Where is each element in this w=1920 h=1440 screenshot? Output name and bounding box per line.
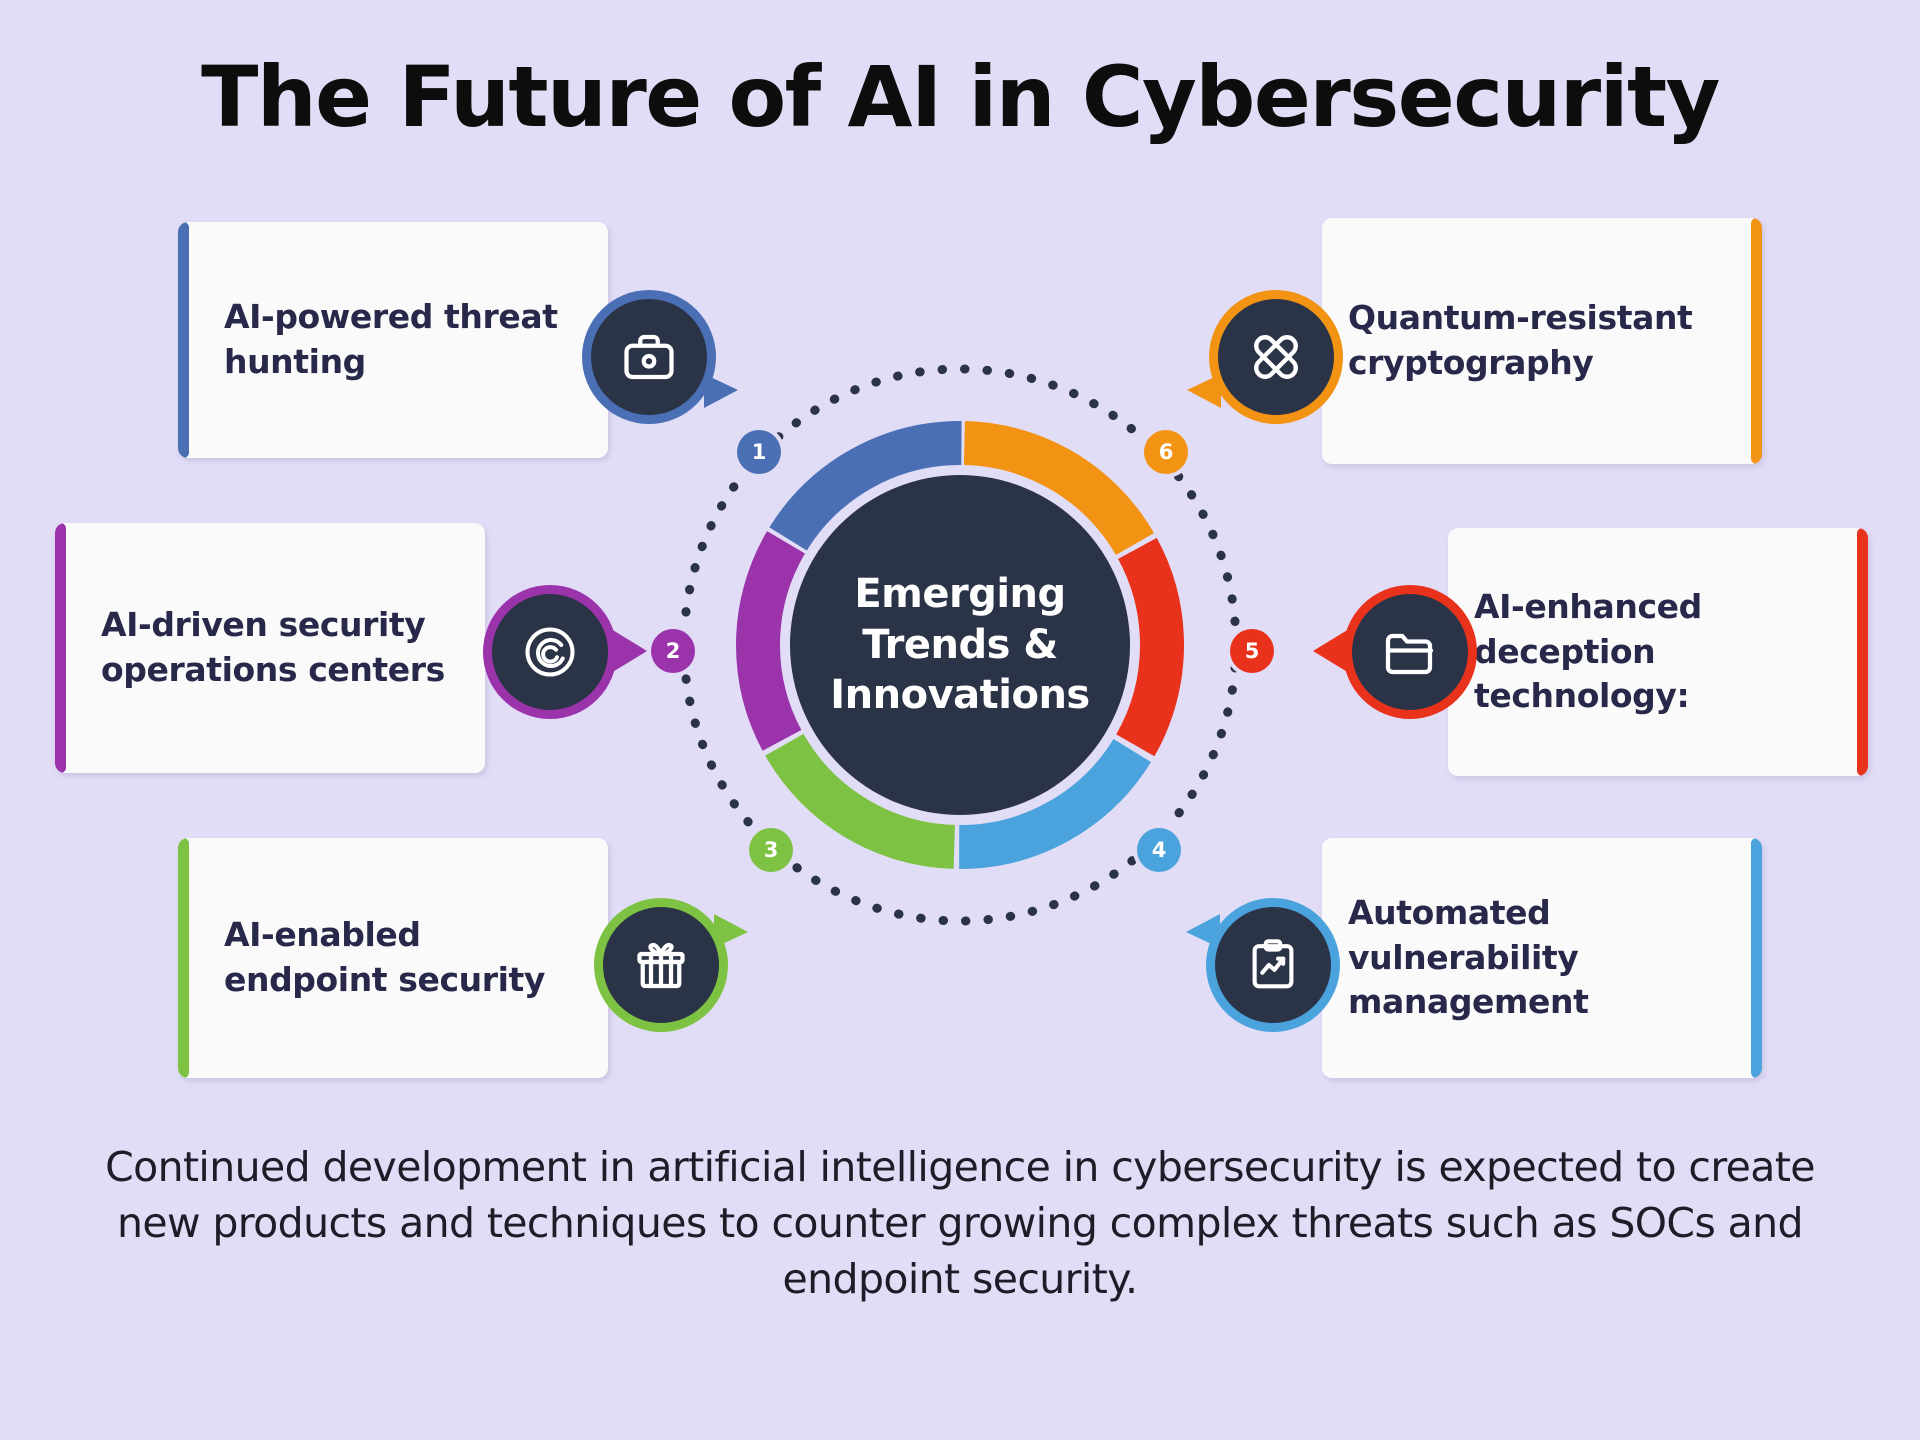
infographic-canvas: The Future of AI in Cybersecurity AI-pow… xyxy=(0,0,1920,1440)
card-ai-powered-threat-hunting[interactable]: AI-powered threat hunting xyxy=(178,222,608,458)
icon-bubble-1[interactable] xyxy=(582,290,716,424)
footer-description: Continued development in artificial inte… xyxy=(90,1140,1830,1307)
bandage-cross-icon xyxy=(1245,326,1307,388)
card-accent-bar xyxy=(178,838,189,1078)
spiral-icon xyxy=(520,622,580,682)
number-label: 6 xyxy=(1159,440,1174,464)
card-automated-vulnerability-management[interactable]: Automated vulnerability management xyxy=(1322,838,1762,1078)
card-label: AI-enabled endpoint security xyxy=(178,913,608,1003)
card-label: Automated vulnerability management xyxy=(1322,891,1762,1026)
card-accent-bar xyxy=(178,222,189,458)
bubble-inner xyxy=(591,299,707,415)
number-node-4[interactable]: 4 xyxy=(1137,828,1181,872)
card-ai-driven-security-operations-centers[interactable]: AI-driven security operations centers xyxy=(55,523,485,773)
icon-bubble-5[interactable] xyxy=(1343,585,1477,719)
card-accent-bar xyxy=(1751,838,1762,1078)
icon-bubble-4[interactable] xyxy=(1206,898,1340,1032)
card-accent-bar xyxy=(1751,218,1762,464)
icon-bubble-6[interactable] xyxy=(1209,290,1343,424)
briefcase-icon xyxy=(619,327,679,387)
card-label: AI-powered threat hunting xyxy=(178,295,608,385)
card-accent-bar xyxy=(55,523,66,773)
gift-icon xyxy=(631,935,691,995)
number-node-6[interactable]: 6 xyxy=(1144,430,1188,474)
number-label: 3 xyxy=(764,838,779,862)
icon-bubble-2[interactable] xyxy=(483,585,617,719)
number-node-2[interactable]: 2 xyxy=(651,629,695,673)
card-label: AI-enhanced deception technology: xyxy=(1448,585,1868,720)
bubble-inner xyxy=(492,594,608,710)
card-ai-enabled-endpoint-security[interactable]: AI-enabled endpoint security xyxy=(178,838,608,1078)
card-accent-bar xyxy=(1857,528,1868,776)
page-title: The Future of AI in Cybersecurity xyxy=(0,48,1920,146)
icon-bubble-3[interactable] xyxy=(594,898,728,1032)
number-label: 1 xyxy=(752,440,767,464)
folder-icon xyxy=(1380,622,1440,682)
bubble-inner xyxy=(603,907,719,1023)
clipboard-chart-icon xyxy=(1244,936,1302,994)
number-node-1[interactable]: 1 xyxy=(737,430,781,474)
center-line-3: Innovations xyxy=(830,670,1089,720)
number-node-3[interactable]: 3 xyxy=(749,828,793,872)
bubble-inner xyxy=(1215,907,1331,1023)
number-label: 4 xyxy=(1152,838,1167,862)
center-hub: Emerging Trends & Innovations xyxy=(790,475,1130,815)
number-label: 5 xyxy=(1245,639,1260,663)
center-line-1: Emerging xyxy=(854,569,1065,619)
card-label: AI-driven security operations centers xyxy=(55,603,485,693)
number-label: 2 xyxy=(666,639,681,663)
center-line-2: Trends & xyxy=(862,620,1057,670)
bubble-inner xyxy=(1352,594,1468,710)
bubble-inner xyxy=(1218,299,1334,415)
number-node-5[interactable]: 5 xyxy=(1230,629,1274,673)
card-ai-enhanced-deception-technology[interactable]: AI-enhanced deception technology: xyxy=(1448,528,1868,776)
card-quantum-resistant-cryptography[interactable]: Quantum-resistant cryptography xyxy=(1322,218,1762,464)
card-label: Quantum-resistant cryptography xyxy=(1322,296,1762,386)
